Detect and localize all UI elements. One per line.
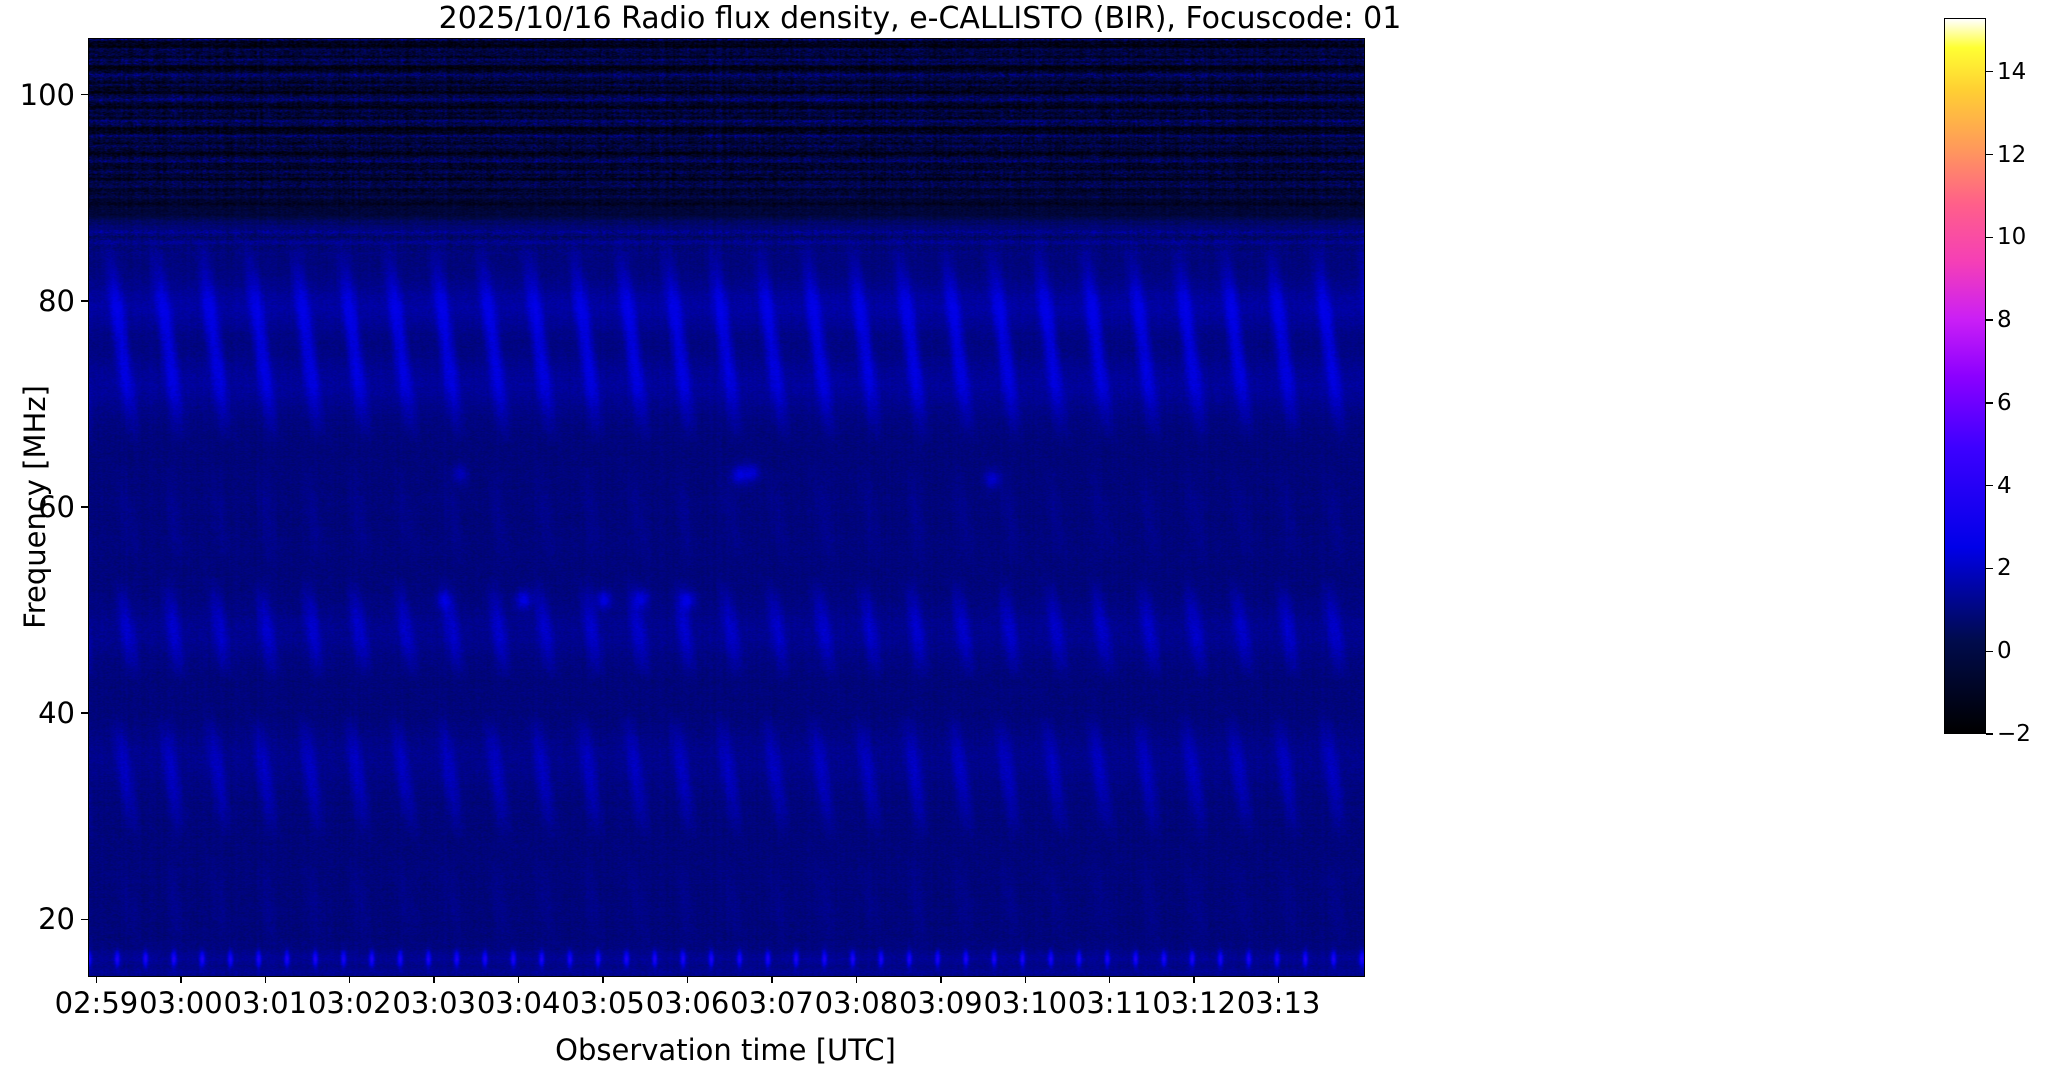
colorbar-gradient [1945,19,1985,733]
y-tick-label: 80 [15,287,75,316]
y-tick-label: 20 [15,905,75,934]
colorbar-tick-label: 2 [1997,557,2047,580]
colorbar-tick-label: 6 [1997,392,2047,415]
figure-canvas: 2025/10/16 Radio flux density, e-CALLIST… [0,0,2066,1067]
colorbar-tick-mark [1986,485,1993,486]
colorbar[interactable] [1944,18,1986,734]
y-axis-label: Frequency [MHz] [18,385,52,629]
colorbar-tick-mark [1986,71,1993,72]
y-tick-mark [81,300,88,301]
x-tick-mark [940,976,941,983]
x-axis-label: Observation time [UTC] [88,1033,1363,1067]
y-tick-label: 40 [15,699,75,728]
colorbar-tick-mark [1986,568,1993,569]
page-title: 2025/10/16 Radio flux density, e-CALLIST… [0,2,1840,36]
spectrogram-axes[interactable] [88,38,1365,977]
y-tick-label: 100 [15,81,75,110]
x-tick-mark [602,976,603,983]
x-tick-mark [96,976,97,983]
x-tick-mark [1109,976,1110,983]
colorbar-tick-label: 14 [1997,61,2047,84]
x-tick-label: 03:13 [1209,989,1349,1018]
colorbar-tick-label: 10 [1997,226,2047,249]
colorbar-tick-mark [1986,319,1993,320]
x-tick-mark [771,976,772,983]
x-tick-mark [856,976,857,983]
colorbar-tick-label: 12 [1997,144,2047,167]
colorbar-tick-mark [1986,402,1993,403]
x-tick-mark [180,976,181,983]
x-tick-mark [1025,976,1026,983]
x-tick-mark [518,976,519,983]
colorbar-tick-mark [1986,733,1993,734]
x-tick-mark [349,976,350,983]
x-tick-mark [265,976,266,983]
colorbar-tick-mark [1986,237,1993,238]
y-tick-mark [81,506,88,507]
x-tick-mark [1278,976,1279,983]
colorbar-tick-mark [1986,154,1993,155]
y-tick-mark [81,94,88,95]
colorbar-tick-label: −2 [1997,723,2047,746]
x-tick-mark [687,976,688,983]
colorbar-tick-mark [1986,651,1993,652]
spectrogram-image [89,39,1364,976]
y-tick-mark [81,919,88,920]
colorbar-tick-label: 4 [1997,475,2047,498]
x-tick-mark [1193,976,1194,983]
x-tick-mark [433,976,434,983]
colorbar-tick-label: 8 [1997,309,2047,332]
colorbar-tick-label: 0 [1997,640,2047,663]
y-tick-mark [81,712,88,713]
